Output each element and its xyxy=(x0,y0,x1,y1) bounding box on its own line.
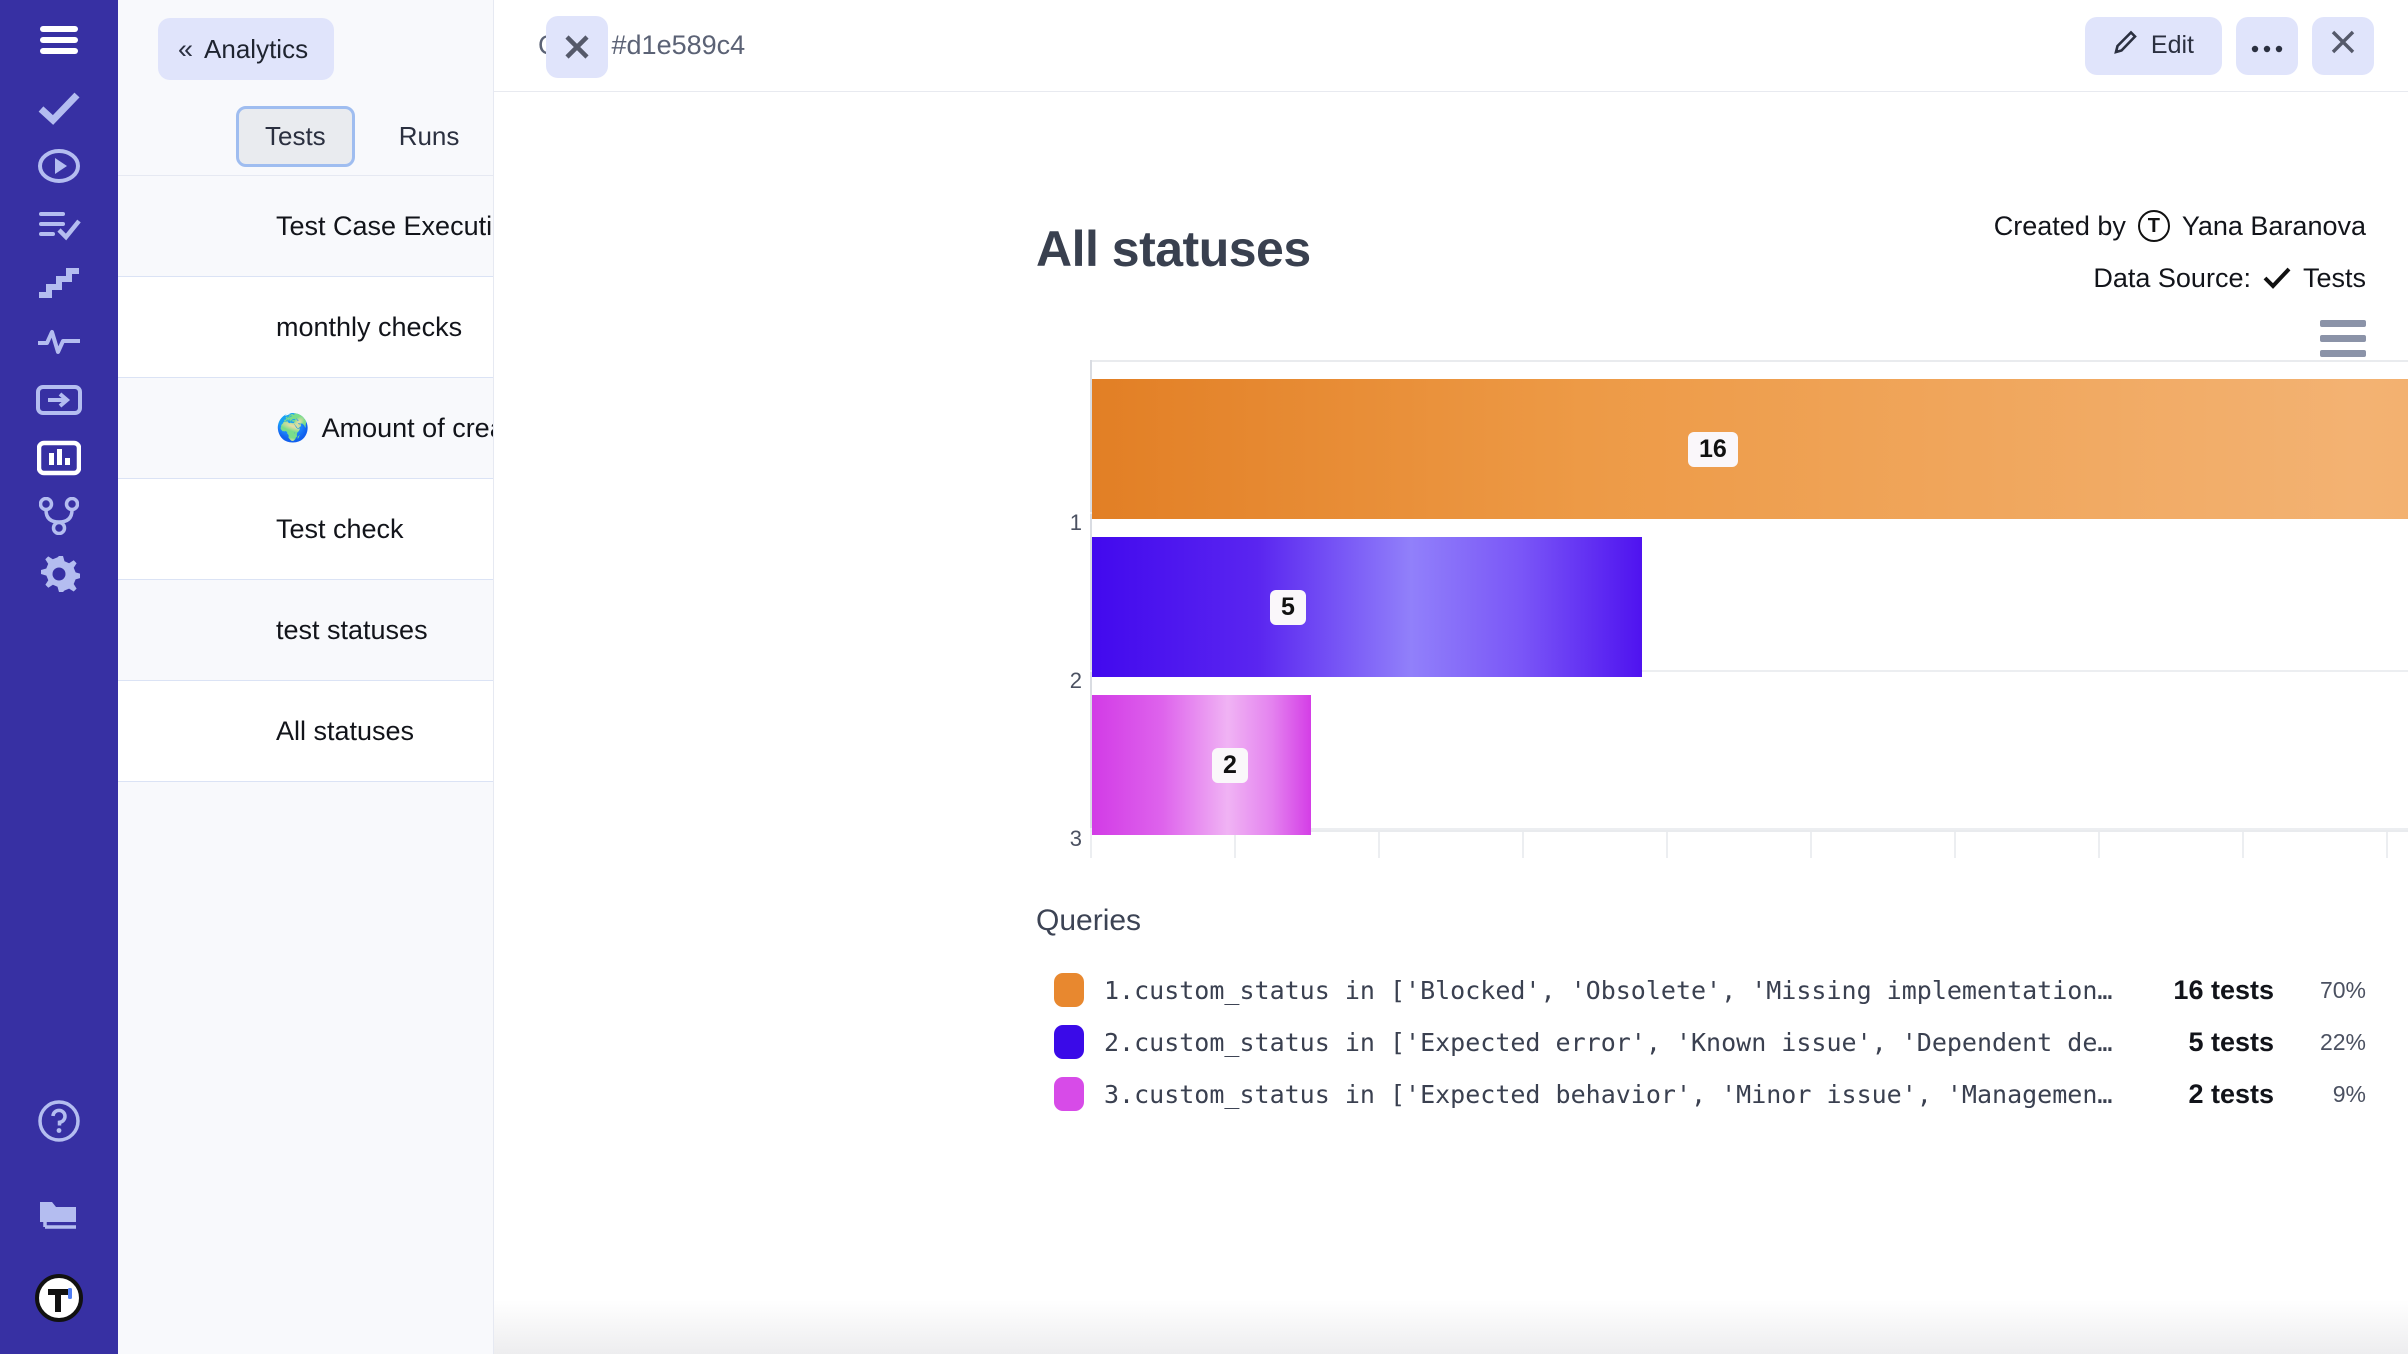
import-icon[interactable] xyxy=(33,374,85,426)
list-item-label: Test check xyxy=(276,514,404,545)
list-item-label: Amount of created and xyxy=(322,413,493,444)
bar-value-label: 2 xyxy=(1212,748,1248,783)
plot-top-gridline xyxy=(1090,360,2408,362)
list-item[interactable]: Test check xyxy=(118,479,493,580)
app-root: « Analytics Tests xyxy=(0,0,2408,1354)
edit-button[interactable]: Edit xyxy=(2085,17,2222,75)
steps-icon[interactable] xyxy=(33,257,85,309)
y-tick-label: 2 xyxy=(1062,668,1082,694)
bottom-shadow xyxy=(494,1300,2408,1354)
x-tick xyxy=(1954,832,1956,858)
bar-series-3[interactable]: 2 xyxy=(1092,695,1311,835)
check-icon xyxy=(2263,267,2291,289)
chart-toolbar: Chart #d1e589c4 Edit xyxy=(494,0,2408,92)
bar-chart-icon[interactable] xyxy=(33,432,85,484)
help-circle-icon[interactable] xyxy=(33,1095,85,1147)
chart-context-menu-button[interactable] xyxy=(2320,320,2366,357)
query-row[interactable]: 3.custom_status in ['Expected behavior',… xyxy=(1054,1068,2366,1120)
bar-series-2[interactable]: 5 xyxy=(1092,537,1642,677)
query-test-count: 2 tests xyxy=(2144,1079,2274,1110)
avatar-logo-icon[interactable] xyxy=(33,1272,85,1324)
close-icon xyxy=(2329,28,2357,63)
chart-meta: Created by T Yana Baranova Data Source: … xyxy=(1994,200,2366,304)
bar-chart-plot: 1 16 2 5 3 2 xyxy=(1090,360,2408,858)
toolbar-actions: Edit xyxy=(2085,17,2374,75)
branch-icon[interactable] xyxy=(33,490,85,542)
hamburger-menu-icon[interactable] xyxy=(33,14,85,66)
list-item[interactable]: 🌍 Amount of created and xyxy=(118,378,493,479)
list-item-label: All statuses xyxy=(276,716,414,747)
analytics-label: Analytics xyxy=(204,34,308,65)
query-test-count: 5 tests xyxy=(2144,1027,2274,1058)
analytics-side-panel: « Analytics Tests xyxy=(118,0,494,1354)
main-content: Chart #d1e589c4 Edit xyxy=(494,0,2408,1354)
primary-nav-rail xyxy=(0,0,118,1354)
x-tick xyxy=(1666,832,1668,858)
list-item[interactable]: All statuses xyxy=(118,681,493,782)
globe-emoji-icon: 🌍 xyxy=(276,412,310,444)
close-tab-button[interactable] xyxy=(546,16,608,78)
pencil-icon xyxy=(2113,29,2139,62)
list-item-label: monthly checks xyxy=(276,312,462,343)
query-test-count: 16 tests xyxy=(2144,975,2274,1006)
series-color-swatch xyxy=(1054,1025,1084,1059)
queries-list: 1.custom_status in ['Blocked', 'Obsolete… xyxy=(1054,964,2366,1120)
y-tick-label: 3 xyxy=(1062,826,1082,852)
checklist-icon[interactable] xyxy=(33,199,85,251)
chevron-double-left-icon: « xyxy=(178,34,190,65)
activity-pulse-icon[interactable] xyxy=(33,315,85,367)
series-color-swatch xyxy=(1054,1077,1084,1111)
gear-icon[interactable] xyxy=(33,548,85,600)
query-row[interactable]: 1.custom_status in ['Blocked', 'Obsolete… xyxy=(1054,964,2366,1016)
created-by-row: Created by T Yana Baranova xyxy=(1994,200,2366,252)
panel-header: « Analytics xyxy=(118,0,493,98)
ellipsis-icon xyxy=(2250,31,2284,60)
y-tick-label: 1 xyxy=(1062,510,1082,536)
folder-icon[interactable] xyxy=(33,1185,85,1237)
query-percent: 70% xyxy=(2296,977,2366,1004)
x-tick xyxy=(1378,832,1380,858)
page-title: All statuses xyxy=(1036,220,1311,278)
bar-value-label: 16 xyxy=(1688,432,1738,467)
list-item[interactable]: Test Case Execution - Mo xyxy=(118,176,493,277)
list-item-label: test statuses xyxy=(276,615,428,646)
data-source-value: Tests xyxy=(2303,252,2366,304)
data-source-row: Data Source: Tests xyxy=(1994,252,2366,304)
data-source-label: Data Source: xyxy=(2093,252,2251,304)
query-percent: 9% xyxy=(2296,1081,2366,1108)
tab-tests[interactable]: Tests xyxy=(236,106,355,167)
saved-charts-list: Test Case Execution - Mo monthly checks … xyxy=(118,176,493,782)
series-color-swatch xyxy=(1054,973,1084,1007)
close-chart-button[interactable] xyxy=(2312,17,2374,75)
x-tick xyxy=(2242,832,2244,858)
list-item-label: Test Case Execution - Mo xyxy=(276,211,493,242)
query-row[interactable]: 2.custom_status in ['Expected error', 'K… xyxy=(1054,1016,2366,1068)
query-text: 2.custom_status in ['Expected error', 'K… xyxy=(1104,1028,2120,1057)
created-by-label: Created by xyxy=(1994,200,2126,252)
chart-body: Created by T Yana Baranova Data Source: … xyxy=(494,92,2408,1354)
bar-value-label: 5 xyxy=(1270,590,1306,625)
avatar: T xyxy=(2138,210,2170,242)
play-circle-icon[interactable] xyxy=(33,140,85,192)
query-percent: 22% xyxy=(2296,1029,2366,1056)
x-tick xyxy=(2098,832,2100,858)
created-by-name: Yana Baranova xyxy=(2182,200,2366,252)
x-tick xyxy=(1522,832,1524,858)
x-tick xyxy=(1810,832,1812,858)
list-item[interactable]: monthly checks xyxy=(118,277,493,378)
edit-label: Edit xyxy=(2151,31,2194,60)
queries-heading: Queries xyxy=(1036,904,1141,938)
analytics-collapse-button[interactable]: « Analytics xyxy=(158,18,334,80)
query-text: 1.custom_status in ['Blocked', 'Obsolete… xyxy=(1104,976,2120,1005)
x-tick xyxy=(1234,832,1236,858)
x-tick xyxy=(2386,832,2388,858)
list-item[interactable]: test statuses xyxy=(118,580,493,681)
panel-tabs: Tests Runs xyxy=(118,98,493,176)
x-tick xyxy=(1090,832,1092,858)
check-icon[interactable] xyxy=(33,82,85,134)
query-text: 3.custom_status in ['Expected behavior',… xyxy=(1104,1080,2120,1109)
bar-series-1[interactable]: 16 xyxy=(1092,379,2408,519)
tab-runs[interactable]: Runs xyxy=(373,109,486,164)
more-options-button[interactable] xyxy=(2236,17,2298,75)
